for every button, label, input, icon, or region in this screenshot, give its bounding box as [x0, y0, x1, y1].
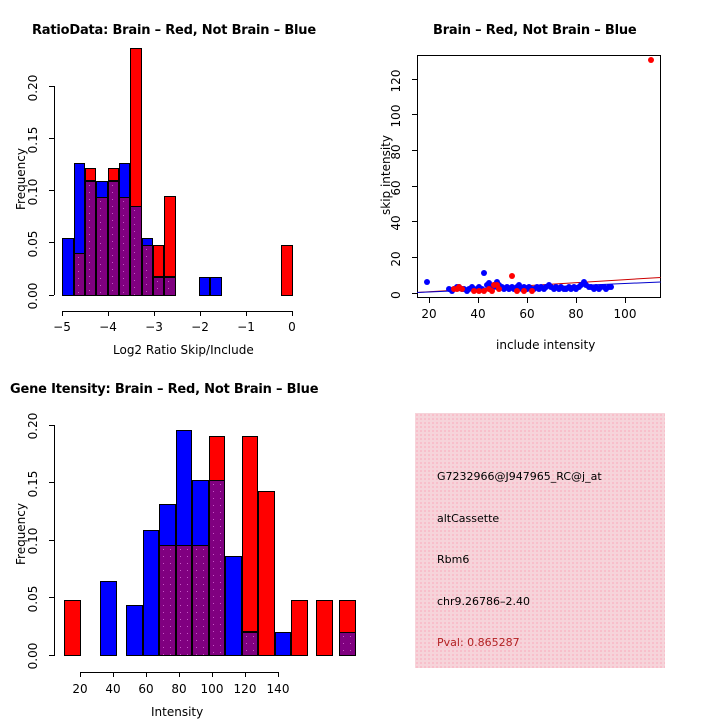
- histogram-bar-red: [164, 196, 176, 277]
- scatter-point: [608, 284, 614, 290]
- scatter-point: [514, 288, 520, 294]
- gene-x-tick: [80, 672, 81, 677]
- ratio-x-tick: [292, 311, 293, 316]
- scatter-point: [459, 286, 465, 292]
- histogram-bar-red: [242, 436, 258, 632]
- histogram-bar-red: [258, 491, 275, 656]
- histogram-bar-red: [85, 168, 96, 181]
- ratio-histogram-plot-area: [0, 0, 360, 360]
- scatter-x-tick-label: 100: [608, 307, 642, 321]
- scatter-point: [424, 279, 430, 285]
- gene-x-tick-label: 120: [228, 682, 262, 696]
- panel-ratio-histogram: RatioData: Brain – Red, Not Brain – Blue…: [0, 0, 360, 360]
- ratio-x-tick: [246, 311, 247, 316]
- scatter-point: [481, 270, 487, 276]
- histogram-bar-overlap: [159, 545, 176, 656]
- histogram-bar-blue: [62, 238, 74, 296]
- histogram-bar-red: [64, 600, 81, 656]
- ratio-x-tick: [108, 311, 109, 316]
- gene-histogram-xlabel: Intensity: [151, 705, 203, 719]
- histogram-bar-overlap: [108, 181, 119, 296]
- histogram-bar-overlap: [164, 277, 176, 296]
- histogram-bar-red: [130, 48, 142, 220]
- ratio-x-tick-label: −4: [93, 320, 123, 334]
- histogram-bar-overlap: [119, 197, 130, 296]
- histogram-bar-overlap: [192, 545, 209, 656]
- gene-symbol-text: Rbm6: [437, 553, 469, 566]
- event-type-text: altCassette: [437, 512, 499, 525]
- panel-gene-intensity-histogram: Gene Itensity: Brain – Red, Not Brain – …: [0, 360, 360, 720]
- histogram-bar-overlap: [176, 545, 192, 656]
- gene-x-tick-label: 140: [261, 682, 295, 696]
- gene-x-tick: [179, 672, 180, 677]
- histogram-bar-blue: [100, 581, 117, 656]
- ratio-x-tick-label: −3: [139, 320, 169, 334]
- figure-canvas: RatioData: Brain – Red, Not Brain – Blue…: [0, 0, 720, 720]
- ratio-x-tick: [200, 311, 201, 316]
- pvalue-text: Pval: 0.865287: [437, 636, 520, 649]
- histogram-bar-overlap: [74, 253, 85, 296]
- scatter-point: [529, 288, 535, 294]
- ratio-x-tick-label: −5: [47, 320, 77, 334]
- scatter-point: [509, 273, 515, 279]
- ratio-histogram-xlabel: Log2 Ratio Skip/Include: [113, 343, 254, 357]
- panel-annotation-info: G7232966@J947965_RC@j_at altCassette Rbm…: [360, 360, 720, 720]
- histogram-bar-blue: [225, 556, 242, 656]
- gene-x-tick: [146, 672, 147, 677]
- scatter-x-tick-label: 40: [463, 307, 493, 321]
- ratio-x-axis: [62, 311, 293, 312]
- histogram-bar-overlap: [96, 197, 108, 296]
- scatter-x-tick: [527, 298, 528, 303]
- gene-x-tick-label: 80: [164, 682, 194, 696]
- scatter-x-tick: [478, 298, 479, 303]
- ratio-x-tick-label: −1: [231, 320, 261, 334]
- scatter-x-tick: [625, 298, 626, 303]
- histogram-bar-overlap: [85, 181, 96, 296]
- histogram-bar-red: [153, 245, 164, 277]
- histogram-bar-overlap: [242, 632, 258, 656]
- ratio-x-tick: [62, 311, 63, 316]
- gene-x-tick: [245, 672, 246, 677]
- scatter-point: [489, 288, 495, 294]
- histogram-bar-red: [316, 600, 333, 656]
- gene-x-tick: [113, 672, 114, 677]
- scatter-point: [648, 57, 654, 63]
- gene-x-tick-label: 20: [65, 682, 95, 696]
- histogram-bar-red: [291, 600, 308, 656]
- histogram-bar-overlap: [209, 480, 225, 656]
- gene-x-tick: [278, 672, 279, 677]
- scatter-points-layer: [360, 0, 720, 360]
- gene-x-tick-label: 100: [195, 682, 229, 696]
- gene-x-tick-label: 60: [131, 682, 161, 696]
- probe-id-text: G7232966@J947965_RC@j_at: [437, 470, 602, 483]
- histogram-bar-blue: [210, 277, 222, 296]
- histogram-bar-red: [108, 168, 119, 181]
- histogram-bar-blue: [199, 277, 210, 296]
- histogram-bar-overlap: [153, 277, 164, 296]
- gene-histogram-plot-area: [0, 360, 360, 720]
- genomic-location-text: chr9.26786–2.40: [437, 595, 530, 608]
- histogram-bar-blue: [143, 530, 159, 656]
- scatter-xlabel: include intensity: [496, 338, 595, 352]
- histogram-bar-overlap: [130, 206, 142, 296]
- histogram-bar-blue: [126, 605, 143, 656]
- scatter-x-tick-label: 60: [512, 307, 542, 321]
- panel-intensity-scatter: Brain – Red, Not Brain – Blue skip inten…: [360, 0, 720, 360]
- scatter-x-tick-label: 20: [414, 307, 444, 321]
- gene-x-tick: [212, 672, 213, 677]
- scatter-x-tick: [576, 298, 577, 303]
- histogram-bar-blue: [275, 632, 291, 656]
- annotation-info-box: G7232966@J947965_RC@j_at altCassette Rbm…: [415, 413, 665, 668]
- scatter-point: [521, 288, 527, 294]
- ratio-x-tick-label: 0: [277, 320, 307, 334]
- scatter-x-tick-label: 80: [561, 307, 591, 321]
- histogram-bar-red: [281, 245, 293, 296]
- ratio-x-tick: [154, 311, 155, 316]
- histogram-bar-overlap: [339, 632, 356, 656]
- scatter-x-tick: [429, 298, 430, 303]
- ratio-x-tick-label: −2: [185, 320, 215, 334]
- gene-x-tick-label: 40: [98, 682, 128, 696]
- histogram-bar-overlap: [142, 245, 153, 296]
